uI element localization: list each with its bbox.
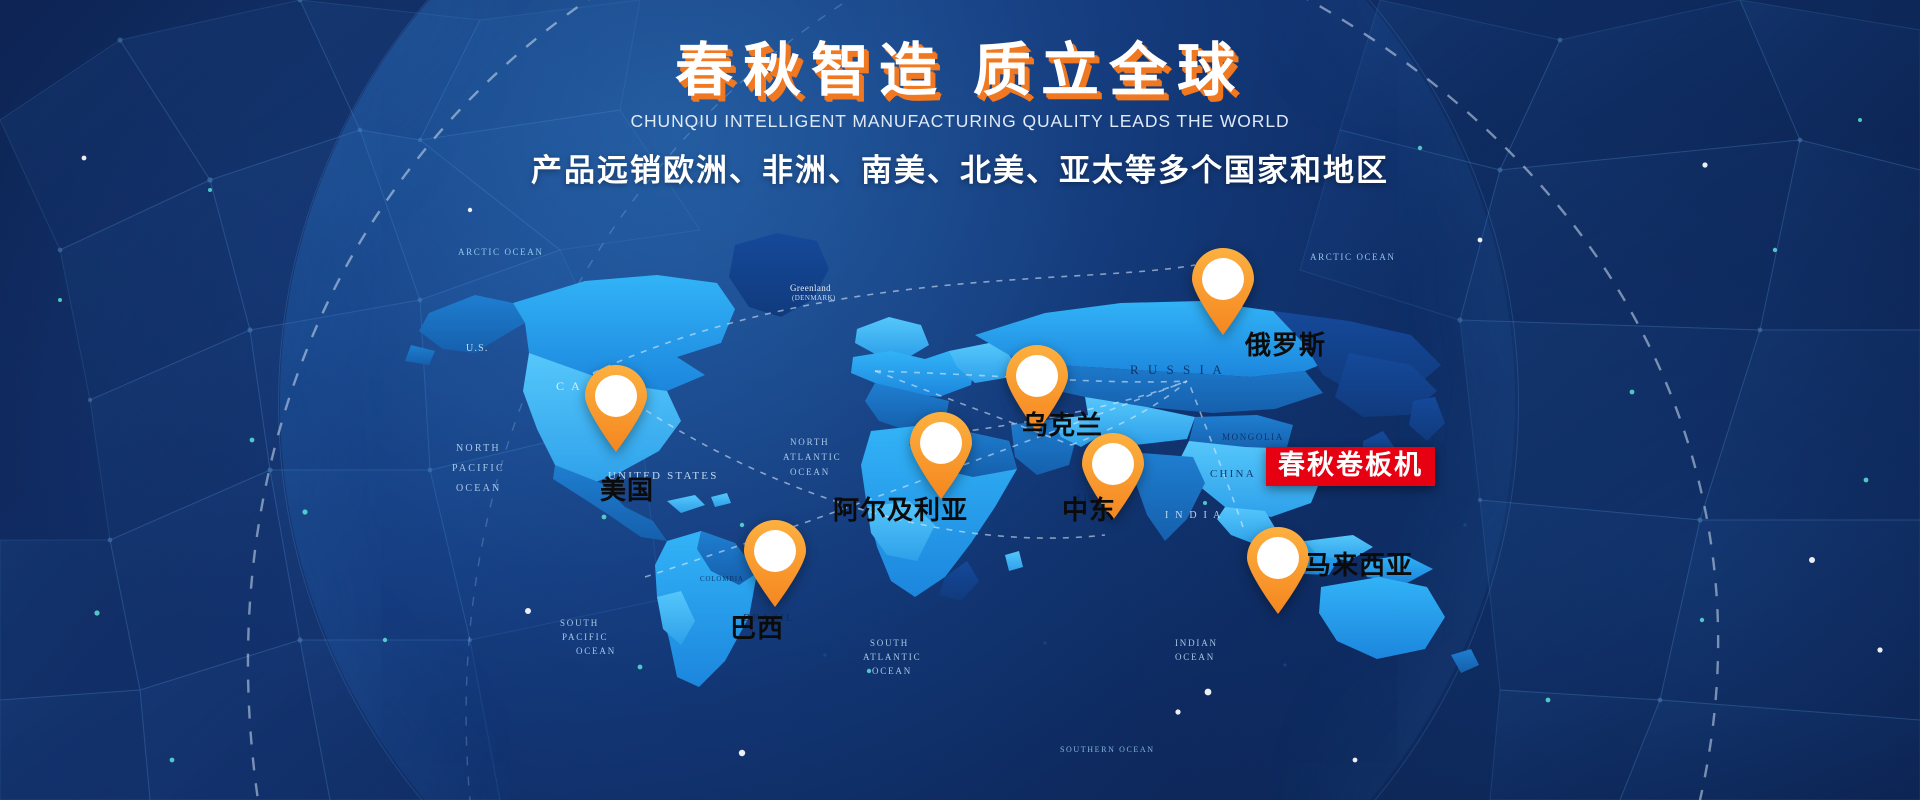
page-subtitle-english: CHUNQIU INTELLIGENT MANUFACTURING QUALIT… (0, 111, 1920, 132)
map-pin-usa[interactable] (583, 365, 649, 453)
map-pin-label-russia: 俄罗斯 (1245, 325, 1326, 362)
map-pin-malaysia[interactable] (1245, 527, 1311, 615)
page-title: 春秋智造质立全球 (0, 40, 1920, 101)
banner-heading-block: 春秋智造质立全球 CHUNQIU INTELLIGENT MANUFACTURI… (0, 40, 1920, 190)
map-pin-label-brazil: 巴西 (730, 608, 784, 645)
location-pin-icon (742, 520, 808, 608)
location-pin-icon (1190, 248, 1256, 336)
title-cn-part1: 春秋智造 (675, 36, 947, 104)
location-pin-icon (583, 365, 649, 453)
world-map-banner: ARCTIC OCEANARCTIC OCEANGreenland(DENMAR… (0, 0, 1920, 800)
map-pin-label-malaysia: 马来西亚 (1305, 545, 1413, 582)
map-pin-label-ukraine: 乌克兰 (1022, 405, 1103, 442)
location-pin-icon (908, 412, 974, 500)
map-pin-algeria[interactable] (908, 412, 974, 500)
map-pin-label-algeria: 阿尔及利亚 (833, 490, 968, 527)
map-pin-brazil[interactable] (742, 520, 808, 608)
title-cn-part2: 质立全球 (973, 36, 1245, 104)
page-subtitle-chinese: 产品远销欧洲、非洲、南美、北美、亚太等多个国家和地区 (0, 145, 1920, 190)
map-pin-russia[interactable] (1190, 248, 1256, 336)
map-pin-label-mideast: 中东 (1062, 490, 1116, 527)
location-pin-icon (1245, 527, 1311, 615)
map-pin-label-usa: 美国 (600, 470, 654, 507)
status-badge[interactable]: 春秋卷板机 (1266, 447, 1435, 486)
